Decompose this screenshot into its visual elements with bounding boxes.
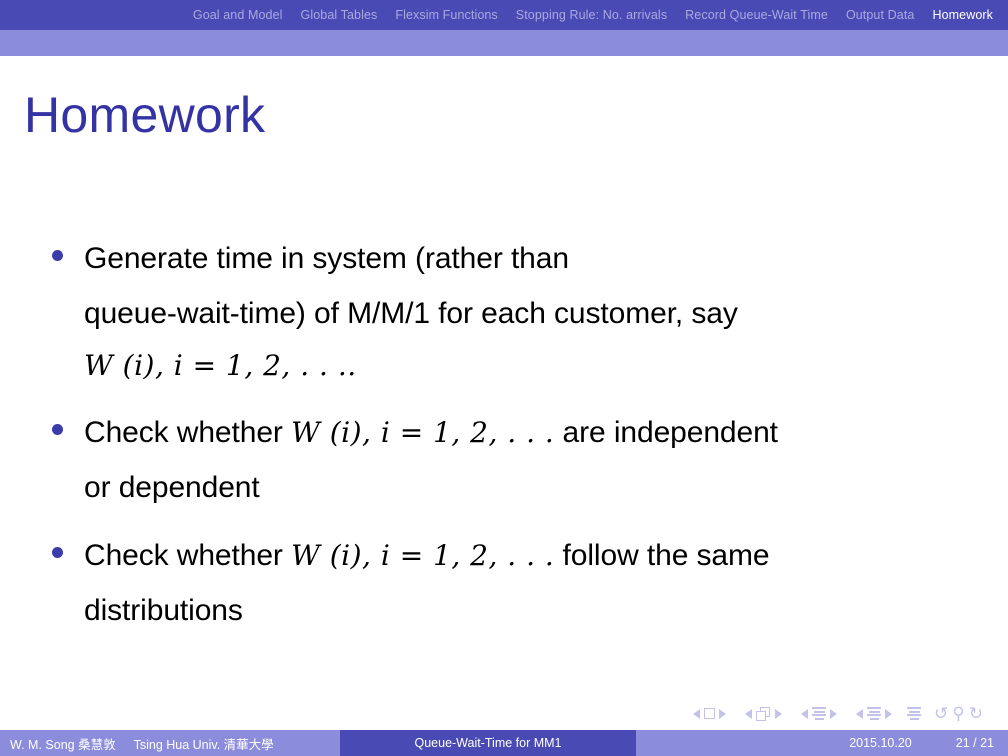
subsection-marker-icon[interactable]: [812, 707, 826, 720]
bullet-item-1-text: Generate time in system (rather than que…: [84, 232, 970, 392]
slide-body: Generate time in system (rather than que…: [40, 232, 970, 653]
forward-icon[interactable]: ↻: [969, 705, 983, 722]
nav-item-homework[interactable]: Homework: [923, 0, 1002, 30]
search-icon[interactable]: ⚲: [952, 705, 964, 722]
frame-navigation-group: [741, 707, 786, 721]
nav-item-goal-and-model[interactable]: Goal and Model: [184, 0, 292, 30]
slide-marker-icon[interactable]: [704, 708, 715, 719]
footer-author: W. M. Song 桑慧敦: [10, 734, 116, 753]
next-frame-icon[interactable]: [775, 709, 782, 719]
bullet-item-1: Generate time in system (rather than que…: [40, 232, 970, 392]
slide-navigation-group: [689, 708, 730, 719]
bullet-1-line-1: Generate time in system (rather than: [84, 242, 569, 275]
bullet-3-suffix: follow the same: [563, 539, 770, 572]
beamer-navigation-symbols: ↺ ⚲ ↻: [689, 705, 996, 722]
previous-section-icon[interactable]: [856, 709, 863, 719]
nav-item-output-data[interactable]: Output Data: [837, 0, 924, 30]
bullet-item-3-text: Check whether W (i), i = 1, 2, . . . fol…: [84, 529, 970, 638]
top-navigation-bar: Goal and Model Global Tables Flexsim Fun…: [0, 0, 1008, 30]
bullet-3-math: W (i), i = 1, 2, . . .: [291, 539, 554, 572]
footer-date: 2015.10.20: [849, 736, 912, 750]
bullet-item-2: Check whether W (i), i = 1, 2, . . . are…: [40, 406, 970, 515]
bullet-item-2-text: Check whether W (i), i = 1, 2, . . . are…: [84, 406, 970, 515]
bullet-2-line-2: or dependent: [84, 471, 260, 504]
bullet-3-prefix: Check whether: [84, 539, 283, 572]
bullet-marker-icon: [40, 406, 84, 435]
bullet-marker-icon: [40, 529, 84, 558]
subsection-navigation-group: [797, 707, 841, 720]
bullet-1-line-2: queue-wait-time) of M/M/1 for each custo…: [84, 297, 738, 330]
footer-presentation-title: Queue-Wait-Time for MM1: [414, 736, 561, 750]
frame-marker-icon[interactable]: [756, 707, 771, 721]
next-subsection-icon[interactable]: [830, 709, 837, 719]
previous-frame-icon[interactable]: [745, 709, 752, 719]
document-marker-icon[interactable]: [907, 707, 921, 720]
footer-page-number: 21 / 21: [956, 736, 994, 750]
nav-item-record-queue-wait-time[interactable]: Record Queue-Wait Time: [676, 0, 837, 30]
bullet-3-line-2: distributions: [84, 594, 243, 627]
bullet-marker-icon: [40, 232, 84, 261]
document-navigation-group: [907, 707, 921, 720]
bullet-1-math: W (i), i = 1, 2, . . ..: [84, 341, 970, 392]
header-accent-band: [0, 30, 1008, 56]
section-marker-icon[interactable]: [867, 707, 881, 720]
previous-subsection-icon[interactable]: [801, 709, 808, 719]
bullet-item-3: Check whether W (i), i = 1, 2, . . . fol…: [40, 529, 970, 638]
next-section-icon[interactable]: [885, 709, 892, 719]
nav-item-flexsim-functions[interactable]: Flexsim Functions: [386, 0, 506, 30]
back-icon[interactable]: ↺: [934, 705, 948, 722]
bullet-2-math: W (i), i = 1, 2, . . .: [291, 416, 554, 449]
slide-title: Homework: [24, 90, 265, 140]
previous-slide-icon[interactable]: [693, 709, 700, 719]
footer-bar: W. M. Song 桑慧敦 Tsing Hua Univ. 清華大學 Queu…: [0, 730, 1008, 756]
footer-author-section: W. M. Song 桑慧敦 Tsing Hua Univ. 清華大學: [0, 730, 340, 756]
history-navigation-group: ↺ ⚲ ↻: [932, 705, 985, 722]
footer-meta-section: 2015.10.20 21 / 21: [636, 730, 1008, 756]
nav-item-stopping-rule[interactable]: Stopping Rule: No. arrivals: [507, 0, 676, 30]
nav-item-global-tables[interactable]: Global Tables: [292, 0, 387, 30]
next-slide-icon[interactable]: [719, 709, 726, 719]
bullet-2-suffix: are independent: [563, 416, 778, 449]
bullet-2-prefix: Check whether: [84, 416, 283, 449]
footer-title-section: Queue-Wait-Time for MM1: [340, 730, 636, 756]
footer-institute: Tsing Hua Univ. 清華大學: [134, 734, 274, 753]
section-navigation-group: [852, 707, 896, 720]
